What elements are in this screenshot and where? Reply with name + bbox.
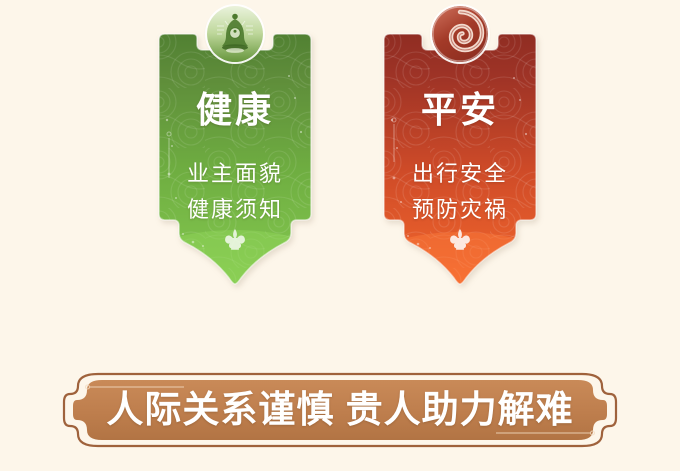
card-health[interactable]: 健康 业主面貌 健康须知	[145, 28, 325, 290]
spiral-emblem-icon	[432, 6, 488, 62]
banner-frame	[62, 372, 618, 448]
card-safety-body	[370, 28, 550, 290]
poster-canvas: 健康 业主面貌 健康须知	[0, 0, 680, 471]
bottom-banner[interactable]: 人际关系谨慎 贵人助力解难	[62, 372, 618, 448]
card-health-body	[145, 28, 325, 290]
bell-emblem-icon	[207, 6, 263, 62]
cards-row: 健康 业主面貌 健康须知	[0, 0, 680, 300]
card-safety[interactable]: 平安 出行安全 预防灾祸	[370, 28, 550, 290]
